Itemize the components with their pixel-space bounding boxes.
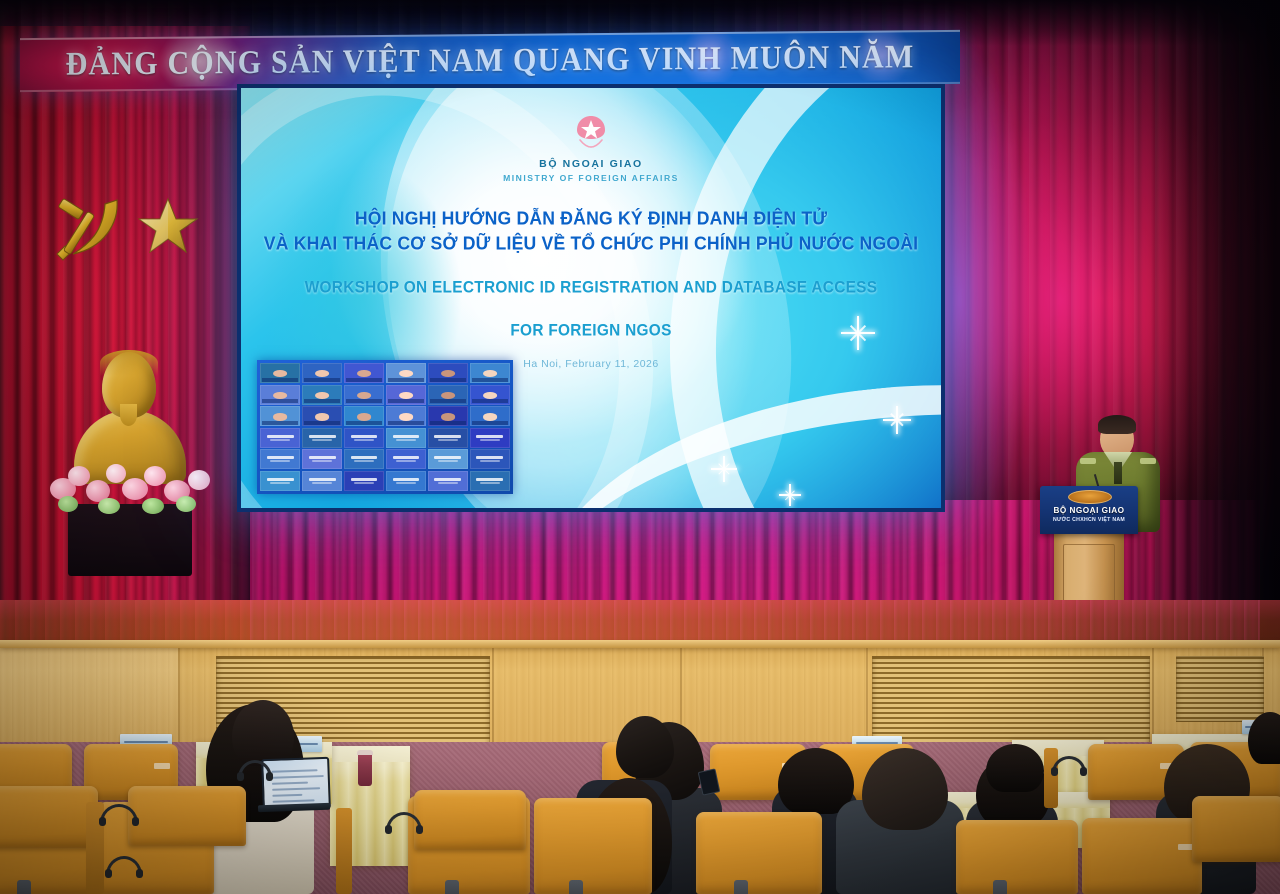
conference-hall-photo: ĐẢNG CỘNG SẢN VIỆT NAM QUANG VINH MUÔN N… bbox=[0, 0, 1280, 894]
gold-star-icon bbox=[137, 197, 199, 257]
video-participant-tile[interactable] bbox=[302, 449, 342, 469]
banner-text: ĐẢNG CỘNG SẢN VIỆT NAM QUANG VINH MUÔN N… bbox=[66, 39, 915, 84]
auditorium-seat[interactable] bbox=[956, 820, 1078, 894]
video-participant-tile[interactable] bbox=[428, 363, 468, 383]
podium-line1: BỘ NGOẠI GIAO bbox=[1040, 506, 1138, 515]
video-participant-tile[interactable] bbox=[260, 363, 300, 383]
video-participant-tile[interactable] bbox=[470, 363, 510, 383]
dark-right-edge bbox=[1150, 0, 1280, 620]
hammer-and-sickle-icon bbox=[45, 190, 135, 270]
mofa-name-en: MINISTRY OF FOREIGN AFFAIRS bbox=[241, 173, 941, 183]
video-participant-tile[interactable] bbox=[302, 406, 342, 426]
slide-title-block: HỘI NGHỊ HƯỚNG DẪN ĐĂNG KÝ ĐỊNH DANH ĐIỆ… bbox=[241, 206, 941, 370]
video-participant-tile[interactable] bbox=[386, 428, 426, 448]
podium-seal-icon bbox=[1068, 490, 1112, 504]
mofa-emblem-icon bbox=[568, 112, 614, 152]
video-participant-tile[interactable] bbox=[344, 449, 384, 469]
mofa-name-vn: BỘ NGOẠI GIAO bbox=[241, 158, 941, 170]
participant-hair bbox=[232, 700, 294, 766]
video-participant-tile[interactable] bbox=[428, 428, 468, 448]
video-participant-tile[interactable] bbox=[470, 471, 510, 491]
video-participant-tile[interactable] bbox=[470, 449, 510, 469]
video-participant-tile[interactable] bbox=[302, 385, 342, 405]
slide-title-en-line1: WORKSHOP ON ELECTRONIC ID REGISTRATION A… bbox=[255, 275, 927, 299]
mofa-logo: BỘ NGOẠI GIAO MINISTRY OF FOREIGN AFFAIR… bbox=[241, 112, 941, 183]
video-participant-tile[interactable] bbox=[428, 385, 468, 405]
participant-hair bbox=[986, 744, 1044, 792]
sparkle-icon bbox=[883, 406, 911, 434]
ho-chi-minh-bust bbox=[62, 352, 202, 602]
video-participant-tile[interactable] bbox=[344, 385, 384, 405]
video-participant-tile[interactable] bbox=[260, 471, 300, 491]
video-participant-tile[interactable] bbox=[344, 471, 384, 491]
projection-screen: BỘ NGOẠI GIAO MINISTRY OF FOREIGN AFFAIR… bbox=[237, 84, 945, 512]
video-participant-tile[interactable] bbox=[260, 406, 300, 426]
video-participant-tile[interactable] bbox=[470, 385, 510, 405]
video-participant-tile[interactable] bbox=[260, 428, 300, 448]
drink-cup bbox=[358, 752, 372, 786]
sparkle-icon bbox=[779, 484, 801, 506]
floor-reflection-red bbox=[0, 600, 250, 640]
video-participant-tile[interactable] bbox=[260, 385, 300, 405]
video-participant-tile[interactable] bbox=[428, 449, 468, 469]
slide-title-en-line2: FOR FOREIGN NGOs bbox=[255, 318, 927, 342]
video-participant-tile[interactable] bbox=[302, 363, 342, 383]
video-participant-tile[interactable] bbox=[260, 449, 300, 469]
podium-plate: BỘ NGOẠI GIAO NƯỚC CHXHCN VIỆT NAM bbox=[1040, 486, 1138, 534]
video-participant-tile[interactable] bbox=[386, 363, 426, 383]
slogan-banner: ĐẢNG CỘNG SẢN VIỆT NAM QUANG VINH MUÔN N… bbox=[20, 30, 960, 92]
sparkle-icon bbox=[711, 456, 737, 482]
auditorium-seat[interactable] bbox=[696, 812, 822, 894]
auditorium-seat[interactable] bbox=[0, 786, 98, 848]
wall-vent bbox=[1176, 656, 1264, 722]
video-participant-tile[interactable] bbox=[470, 428, 510, 448]
video-participant-tile[interactable] bbox=[386, 406, 426, 426]
seat-armrest bbox=[1044, 748, 1058, 808]
seat-armrest bbox=[336, 808, 352, 894]
slide-canvas: BỘ NGOẠI GIAO MINISTRY OF FOREIGN AFFAIR… bbox=[241, 88, 941, 508]
auditorium-seat[interactable] bbox=[128, 786, 246, 846]
podium-line2: NƯỚC CHXHCN VIỆT NAM bbox=[1040, 517, 1138, 523]
participant-head bbox=[616, 716, 674, 778]
auditorium-seat[interactable] bbox=[1082, 818, 1202, 894]
slide-swoosh-d bbox=[524, 352, 941, 508]
cup-lid bbox=[357, 750, 373, 755]
video-participant-tile[interactable] bbox=[302, 428, 342, 448]
auditorium-seat[interactable] bbox=[414, 790, 526, 850]
video-conference-grid bbox=[257, 360, 513, 494]
video-participant-tile[interactable] bbox=[386, 385, 426, 405]
participant-hair bbox=[778, 748, 854, 814]
video-participant-tile[interactable] bbox=[302, 471, 342, 491]
video-participant-tile[interactable] bbox=[428, 406, 468, 426]
video-participant-tile[interactable] bbox=[386, 449, 426, 469]
slide-title-vn-line2: VÀ KHAI THÁC CƠ SỞ DỮ LIỆU VỀ TỔ CHỨC PH… bbox=[255, 230, 927, 256]
flower-arrangement bbox=[46, 460, 222, 522]
video-participant-tile[interactable] bbox=[386, 471, 426, 491]
video-participant-tile[interactable] bbox=[470, 406, 510, 426]
video-participant-tile[interactable] bbox=[428, 471, 468, 491]
floor-reflection-magenta bbox=[250, 600, 1260, 640]
video-participant-tile[interactable] bbox=[344, 363, 384, 383]
auditorium-seat[interactable] bbox=[1192, 796, 1280, 862]
video-participant-tile[interactable] bbox=[344, 406, 384, 426]
auditorium-seat[interactable] bbox=[534, 798, 652, 894]
slide-title-vn-line1: HỘI NGHỊ HƯỚNG DẪN ĐĂNG KÝ ĐỊNH DANH ĐIỆ… bbox=[255, 205, 927, 231]
wall-cap-rail bbox=[0, 640, 1280, 648]
wall-vent bbox=[872, 656, 1150, 750]
video-participant-tile[interactable] bbox=[344, 428, 384, 448]
